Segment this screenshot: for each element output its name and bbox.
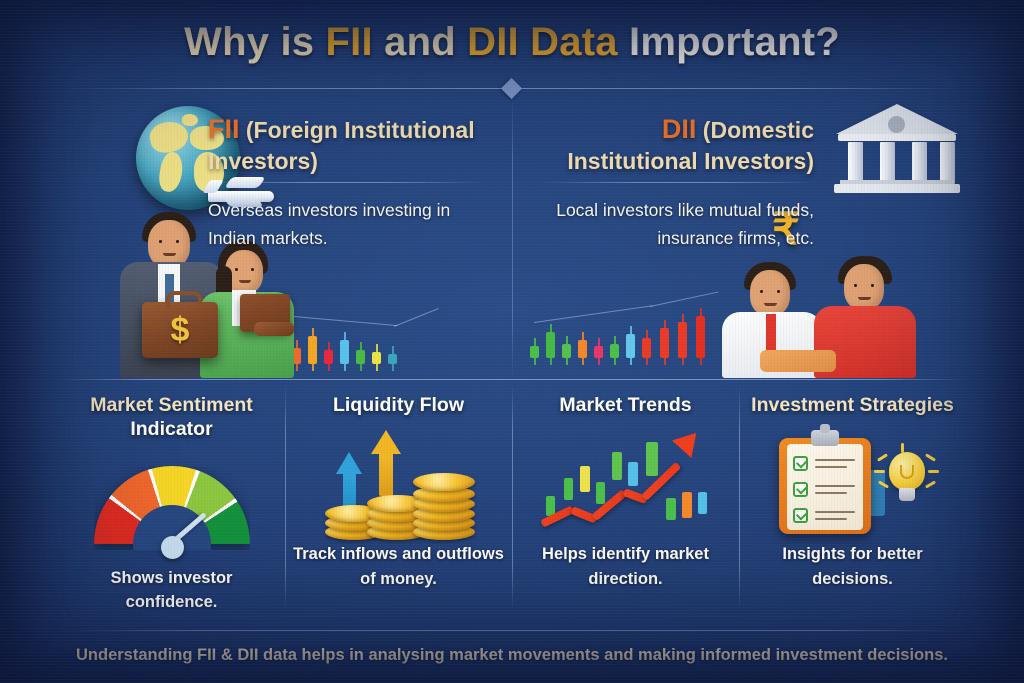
title-part-fii: FII: [326, 20, 373, 64]
rising-trend-arrow-icon: [512, 424, 739, 542]
footer-divider: [68, 630, 956, 631]
panel-fii-heading: FII (Foreign Institutional Investors): [208, 112, 494, 176]
page-title: Why is FII and DII Data Important?: [0, 20, 1024, 65]
benefit-cards: Market Sentiment Indicator Shows investo…: [58, 380, 966, 620]
title-part-and: and: [373, 20, 467, 64]
panel-fii-expansion: (Foreign Institutional Investors): [208, 117, 475, 174]
card-market-sentiment[interactable]: Market Sentiment Indicator Shows investo…: [58, 380, 285, 620]
card-market-trends[interactable]: Market Trends: [512, 380, 739, 620]
card-4-description: Insights for better decisions.: [739, 542, 966, 592]
card-1-description: Shows investor confidence.: [58, 566, 285, 616]
card-1-title-line2: Indicator: [130, 418, 212, 440]
card-4-title: Investment Strategies: [739, 394, 966, 418]
definition-panels: $ FII (Foreign Institutional Investors) …: [58, 96, 966, 378]
card-2-title: Liquidity Flow: [285, 394, 512, 418]
card-1-title: Market Sentiment Indicator: [58, 394, 285, 442]
hands-shaking-illustration: [760, 350, 836, 372]
clipboard-paper: [787, 444, 863, 530]
card-2-description: Track inflows and outflows of money.: [285, 542, 512, 592]
title-part-dii-data: DII Data: [467, 20, 618, 64]
handbag-flap: [254, 322, 294, 336]
card-4-title-line1: Investment Strategies: [751, 394, 954, 416]
card-investment-strategies[interactable]: Investment Strategies: [739, 380, 966, 620]
panel-fii: $ FII (Foreign Institutional Investors) …: [58, 96, 504, 378]
panel-dii-abbr: DII: [662, 114, 697, 144]
panel-dii-rule: [540, 182, 816, 183]
card-3-description: Helps identify market direction.: [512, 542, 739, 592]
clipboard-clamp: [811, 430, 839, 446]
footer-summary: Understanding FII & DII data helps in an…: [0, 646, 1024, 665]
card-liquidity-flow[interactable]: Liquidity Flow: [285, 380, 512, 620]
header: Why is FII and DII Data Important?: [0, 0, 1024, 92]
infographic-canvas: Why is FII and DII Data Important?: [0, 0, 1024, 683]
panel-dii-heading: DII (Domestic Institutional Investors): [530, 112, 814, 176]
card-1-title-line1: Market Sentiment: [90, 394, 253, 416]
card-3-title: Market Trends: [512, 394, 739, 418]
title-part-1: Why is: [184, 20, 325, 64]
panel-dii: ₹ DII (Domestic Institutional Investors)…: [520, 96, 966, 378]
clipboard-lightbulb-icon: [739, 424, 966, 542]
gauge-meter-icon: [58, 448, 285, 566]
panel-dii-description: Local investors like mutual funds, insur…: [534, 196, 814, 253]
panel-fii-description: Overseas investors investing in Indian m…: [208, 196, 490, 253]
panel-fii-rule: [206, 182, 484, 183]
title-part-important: Important?: [618, 20, 840, 64]
coin-stacks-arrows-icon: [285, 424, 512, 542]
bank-building-icon: [836, 104, 958, 196]
panel-fii-abbr: FII: [208, 114, 240, 144]
briefcase-dollar-icon: $: [142, 302, 218, 358]
card-2-title-line1: Liquidity Flow: [333, 394, 464, 416]
lightbulb-icon: [883, 452, 931, 504]
card-3-title-line1: Market Trends: [559, 394, 691, 416]
